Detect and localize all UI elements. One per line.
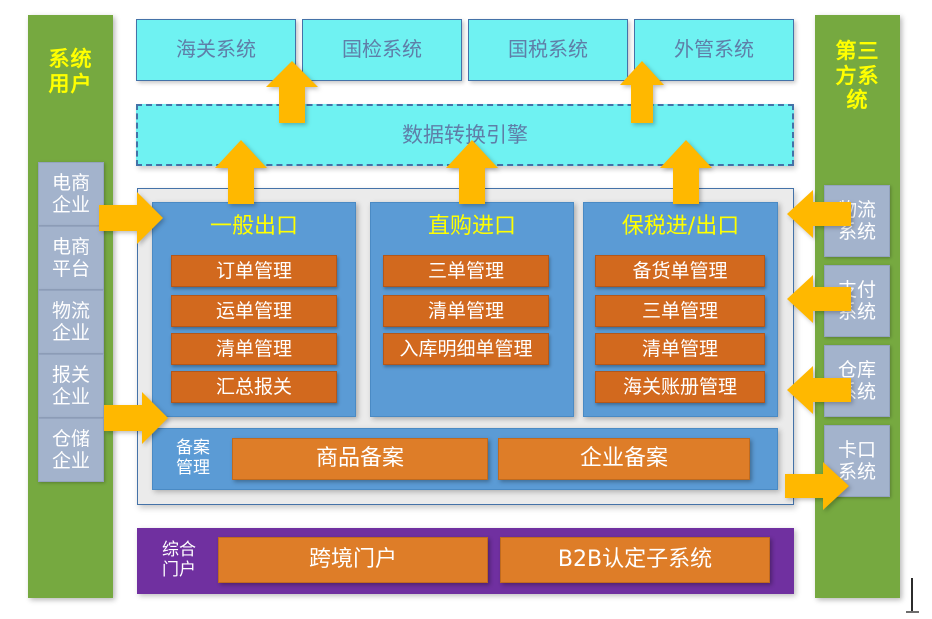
right-panel-title: 第三 方系 统 — [815, 30, 900, 122]
module-label: 清单管理 — [216, 338, 292, 360]
arrow-right-users-to-platform-bottom — [104, 392, 168, 444]
module-label: 订单管理 — [216, 260, 292, 282]
external-system-label: 国税系统 — [508, 38, 588, 62]
right-panel-title-line-1: 第三 — [836, 39, 880, 64]
module-label: 入库明细单管理 — [399, 338, 532, 360]
module-label: 清单管理 — [642, 338, 718, 360]
arrow-left-logistics-to-platform — [787, 190, 851, 238]
sidebar-item-ecommerce-enterprise[interactable]: 电商 企业 — [38, 162, 104, 226]
sidebar-item-warehousing-enterprise[interactable]: 仓储 企业 — [38, 418, 104, 482]
external-system-label: 外管系统 — [674, 38, 754, 62]
sidebar-item-label: 报关 — [52, 364, 90, 386]
left-panel-title: 系统 用户 — [28, 36, 113, 108]
arrow-up-direct-import-to-engine — [446, 140, 498, 204]
arrow-up-general-export-to-engine — [215, 140, 267, 204]
module-consolidated-declaration[interactable]: 汇总报关 — [171, 371, 337, 403]
third-party-item-label: 卡口 — [838, 439, 876, 461]
module-b2b-certification-subsystem[interactable]: B2B认定子系统 — [500, 537, 770, 583]
module-label: 清单管理 — [428, 300, 504, 322]
module-three-orders-management-2[interactable]: 三单管理 — [595, 295, 765, 327]
module-label: 跨境门户 — [309, 547, 397, 573]
sidebar-item-logistics-enterprise[interactable]: 物流 企业 — [38, 290, 104, 354]
module-label: 备货单管理 — [632, 260, 727, 282]
sidebar-item-label: 电商 — [52, 236, 90, 258]
module-label: 三单管理 — [642, 300, 718, 322]
sidebar-item-label: 仓储 — [52, 428, 90, 450]
module-enterprise-registration[interactable]: 企业备案 — [498, 438, 750, 480]
module-inbound-detail-management[interactable]: 入库明细单管理 — [383, 333, 549, 365]
external-system-inspection[interactable]: 国检系统 — [302, 19, 462, 81]
module-order-management[interactable]: 订单管理 — [171, 255, 337, 287]
module-inventory-list-management-3[interactable]: 清单管理 — [595, 333, 765, 365]
module-label: B2B认定子系统 — [558, 547, 712, 573]
module-cross-border-portal[interactable]: 跨境门户 — [218, 537, 488, 583]
text-cursor-crossbar — [906, 611, 919, 613]
right-panel-title-line-3: 统 — [847, 88, 869, 113]
text-cursor-artifact — [911, 578, 913, 612]
left-panel-title-line-2: 用户 — [49, 72, 93, 97]
business-column-title-general-export: 一般出口 — [152, 212, 356, 242]
arrow-right-platform-to-checkpoint — [785, 462, 849, 510]
sidebar-item-label: 电商 — [52, 172, 90, 194]
module-label: 三单管理 — [428, 260, 504, 282]
arrow-left-payment-to-platform — [787, 275, 851, 323]
external-system-label: 海关系统 — [176, 38, 256, 62]
portal-label: 综合 门户 — [146, 538, 212, 584]
arrow-right-users-to-platform-top — [99, 192, 163, 244]
module-three-orders-management[interactable]: 三单管理 — [383, 255, 549, 287]
sidebar-item-label: 企业 — [52, 450, 90, 472]
module-waybill-management[interactable]: 运单管理 — [171, 295, 337, 327]
module-stocking-order-management[interactable]: 备货单管理 — [595, 255, 765, 287]
left-panel-title-line-1: 系统 — [49, 47, 93, 72]
business-column-title-direct-purchase-import: 直购进口 — [370, 212, 574, 242]
module-customs-ledger-management[interactable]: 海关账册管理 — [595, 371, 765, 403]
module-label: 企业备案 — [580, 446, 668, 472]
sidebar-item-customs-broker-enterprise[interactable]: 报关 企业 — [38, 354, 104, 418]
right-panel-title-line-2: 方系 — [836, 64, 880, 89]
module-label: 汇总报关 — [216, 376, 292, 398]
record-management-label: 备案 管理 — [160, 436, 226, 482]
sidebar-item-ecommerce-platform[interactable]: 电商 平台 — [38, 226, 104, 290]
module-label: 运单管理 — [216, 300, 292, 322]
sidebar-item-label: 平台 — [52, 258, 90, 280]
arrow-left-warehouse-to-platform — [787, 366, 851, 414]
arrow-up-engine-to-tax-forex — [620, 61, 664, 123]
sidebar-item-label: 企业 — [52, 322, 90, 344]
architecture-diagram: 系统 用户 电商 企业 电商 平台 物流 企业 报关 企业 仓储 企业 第三 方… — [0, 0, 932, 619]
external-system-tax[interactable]: 国税系统 — [468, 19, 628, 81]
external-system-label: 国检系统 — [342, 38, 422, 62]
sidebar-item-label: 企业 — [52, 194, 90, 216]
arrow-up-engine-to-customs — [266, 61, 318, 123]
sidebar-item-label: 企业 — [52, 386, 90, 408]
module-label: 海关账册管理 — [623, 376, 737, 398]
module-inventory-list-management[interactable]: 清单管理 — [171, 333, 337, 365]
arrow-up-bonded-to-engine — [660, 140, 712, 204]
business-column-title-bonded-import-export: 保税进/出口 — [583, 212, 778, 242]
module-product-registration[interactable]: 商品备案 — [232, 438, 488, 480]
module-label: 商品备案 — [316, 446, 404, 472]
sidebar-item-label: 物流 — [52, 300, 90, 322]
module-inventory-list-management-2[interactable]: 清单管理 — [383, 295, 549, 327]
